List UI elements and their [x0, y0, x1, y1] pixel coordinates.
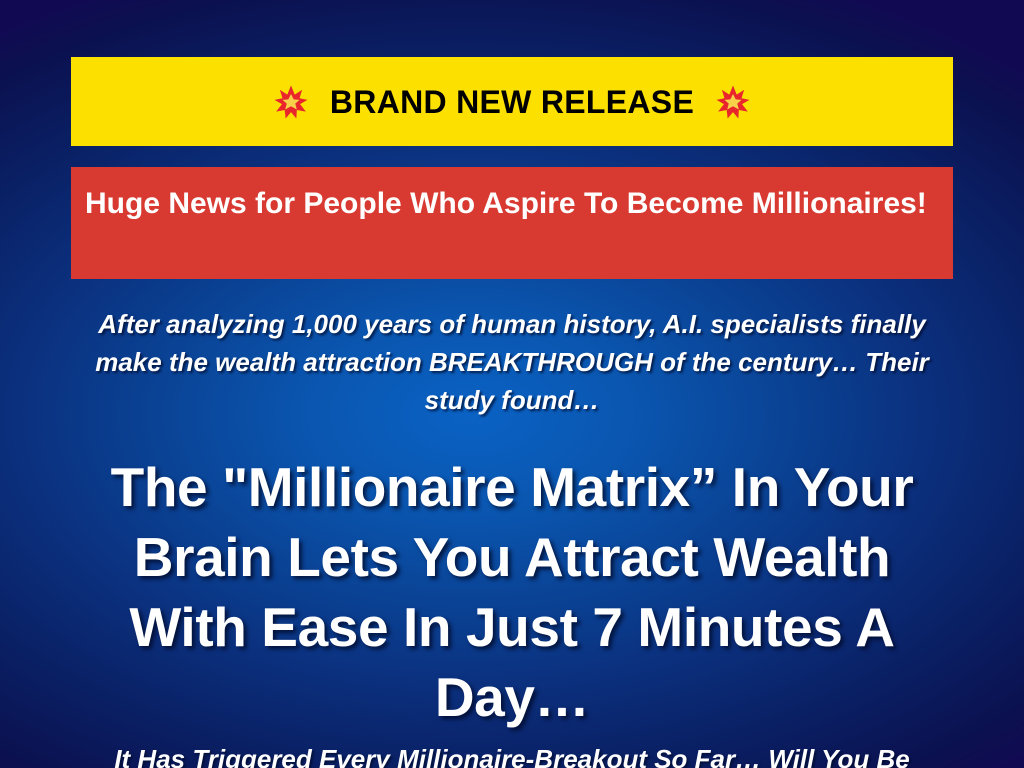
boom-collision-icon-right	[716, 85, 750, 119]
sales-page: BRAND NEW RELEASE Huge News for People W…	[0, 0, 1024, 768]
subheadline-text: After analyzing 1,000 years of human his…	[92, 305, 932, 419]
news-banner: Huge News for People Who Aspire To Becom…	[71, 167, 953, 279]
boom-collision-icon-left	[274, 85, 308, 119]
tagline-text: It Has Triggered Every Millionaire-Break…	[72, 742, 952, 768]
release-banner: BRAND NEW RELEASE	[71, 57, 953, 146]
main-headline: The "Millionaire Matrix” In Your Brain L…	[80, 452, 944, 732]
release-banner-label: BRAND NEW RELEASE	[330, 86, 694, 118]
news-banner-label: Huge News for People Who Aspire To Becom…	[85, 183, 931, 225]
